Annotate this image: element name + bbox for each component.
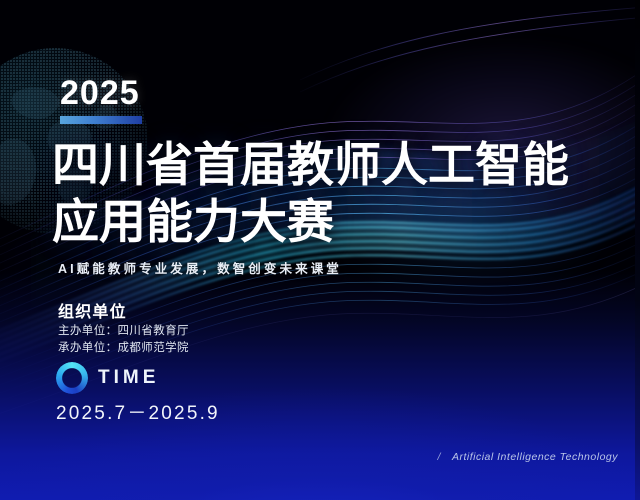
organizer-undertaker-line: 承办单位：成都师范学院 — [58, 340, 189, 357]
page-title: 四川省首届教师人工智能 应用能力大赛 — [52, 136, 569, 250]
year-label: 2025 — [60, 76, 140, 110]
organizer-list: 主办单位：四川省教育厅 承办单位：成都师范学院 — [58, 323, 189, 357]
poster-canvas: 2025 四川省首届教师人工智能 应用能力大赛 AI赋能教师专业发展，数智创变未… — [0, 0, 640, 500]
time-block: TIME — [56, 362, 159, 394]
ring-icon — [56, 362, 88, 394]
poster-content: 2025 四川省首届教师人工智能 应用能力大赛 AI赋能教师专业发展，数智创变未… — [0, 0, 640, 500]
subtitle: AI赋能教师专业发展，数智创变未来课堂 — [58, 258, 342, 277]
footnote: / Artificial Intelligence Technology — [438, 451, 618, 463]
organizer-host-line: 主办单位：四川省教育厅 — [58, 323, 189, 340]
time-range: 2025.7－2025.9 — [56, 398, 220, 425]
footnote-text: Artificial Intelligence Technology — [452, 451, 618, 463]
time-label: TIME — [98, 367, 159, 389]
year-underline-bar — [60, 116, 142, 124]
title-line-2: 应用能力大赛 — [52, 193, 569, 250]
right-edge-strip — [635, 0, 640, 500]
title-line-1: 四川省首届教师人工智能 — [52, 136, 569, 193]
organizer-heading: 组织单位 — [58, 298, 127, 322]
footnote-slash: / — [438, 451, 441, 463]
